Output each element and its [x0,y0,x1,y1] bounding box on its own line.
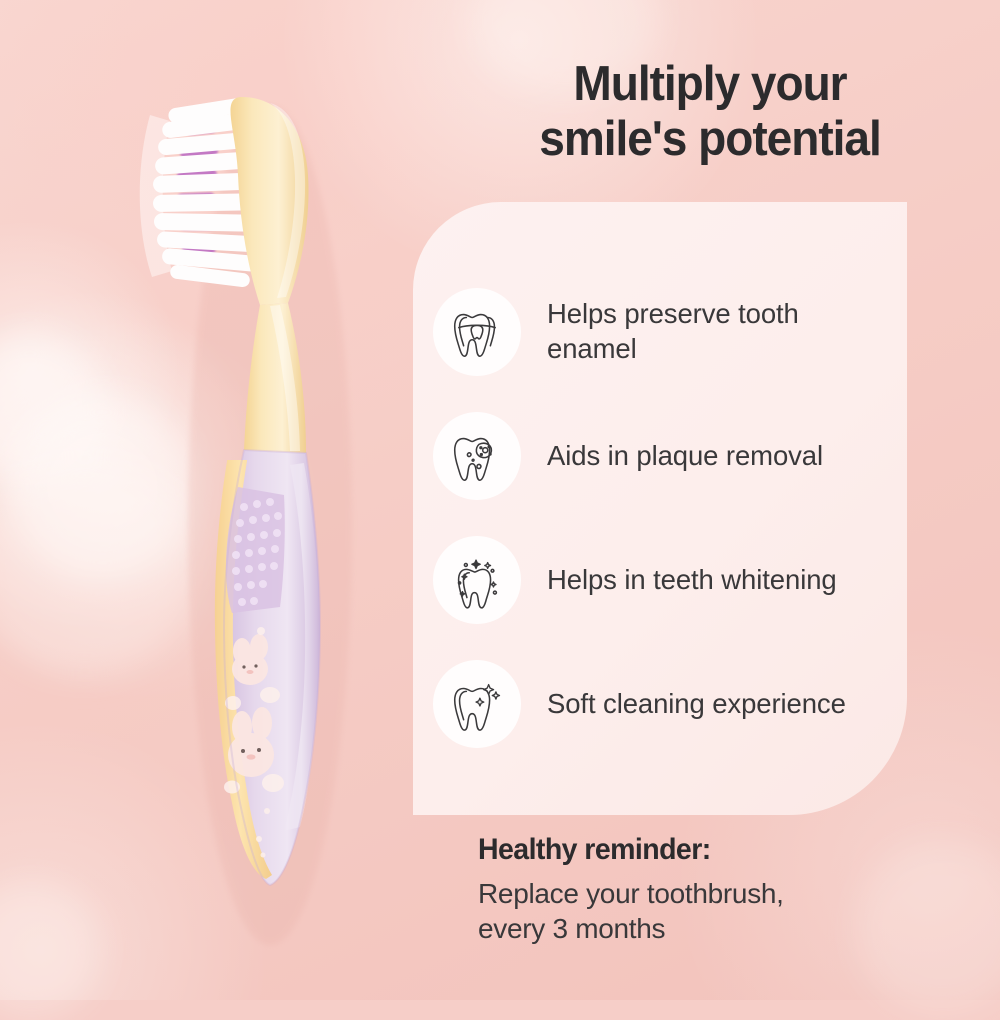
reminder-body: Replace your toothbrush, every 3 months [478,876,948,946]
headline-line-1: Multiply your [573,57,846,111]
tooth-plaque-icon [433,412,521,500]
feature-label: Helps preserve tooth enamel [547,297,893,366]
feature-list: Helps preserve tooth enamel Aids in plaq… [433,288,893,748]
feature-item-soft-cleaning: Soft cleaning experience [433,660,893,748]
feature-item-enamel: Helps preserve tooth enamel [433,288,893,376]
toothbrush-image [120,55,410,955]
feature-item-plaque: Aids in plaque removal [433,412,893,500]
feature-label: Helps in teeth whitening [547,563,837,598]
toothbrush-svg [120,55,410,955]
page-title: Multiply your smile's potential [447,57,973,168]
feature-label: Soft cleaning experience [547,687,846,722]
tooth-whitening-icon [433,536,521,624]
reminder-body-line-1: Replace your toothbrush, [478,878,784,909]
reminder-body-line-2: every 3 months [478,913,665,944]
reminder-title: Healthy reminder: [478,833,925,867]
headline-line-2: smile's potential [539,112,880,166]
feature-panel: Helps preserve tooth enamel Aids in plaq… [413,202,907,815]
feature-label: Aids in plaque removal [547,439,823,474]
tooth-enamel-icon [433,288,521,376]
healthy-reminder: Healthy reminder: Replace your toothbrus… [478,833,948,946]
feature-item-whitening: Helps in teeth whitening [433,536,893,624]
tooth-sparkle-icon [433,660,521,748]
